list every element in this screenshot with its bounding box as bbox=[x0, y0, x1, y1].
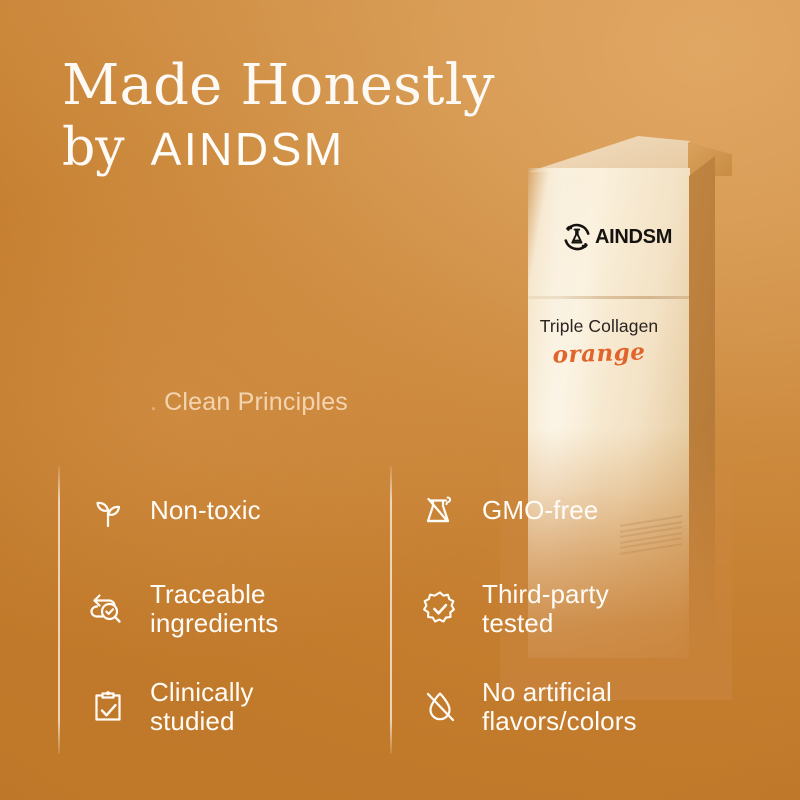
background-vignette bbox=[0, 0, 800, 800]
product-marketing-graphic: AINDSM Triple Collagen orange Made Hones… bbox=[0, 0, 800, 800]
